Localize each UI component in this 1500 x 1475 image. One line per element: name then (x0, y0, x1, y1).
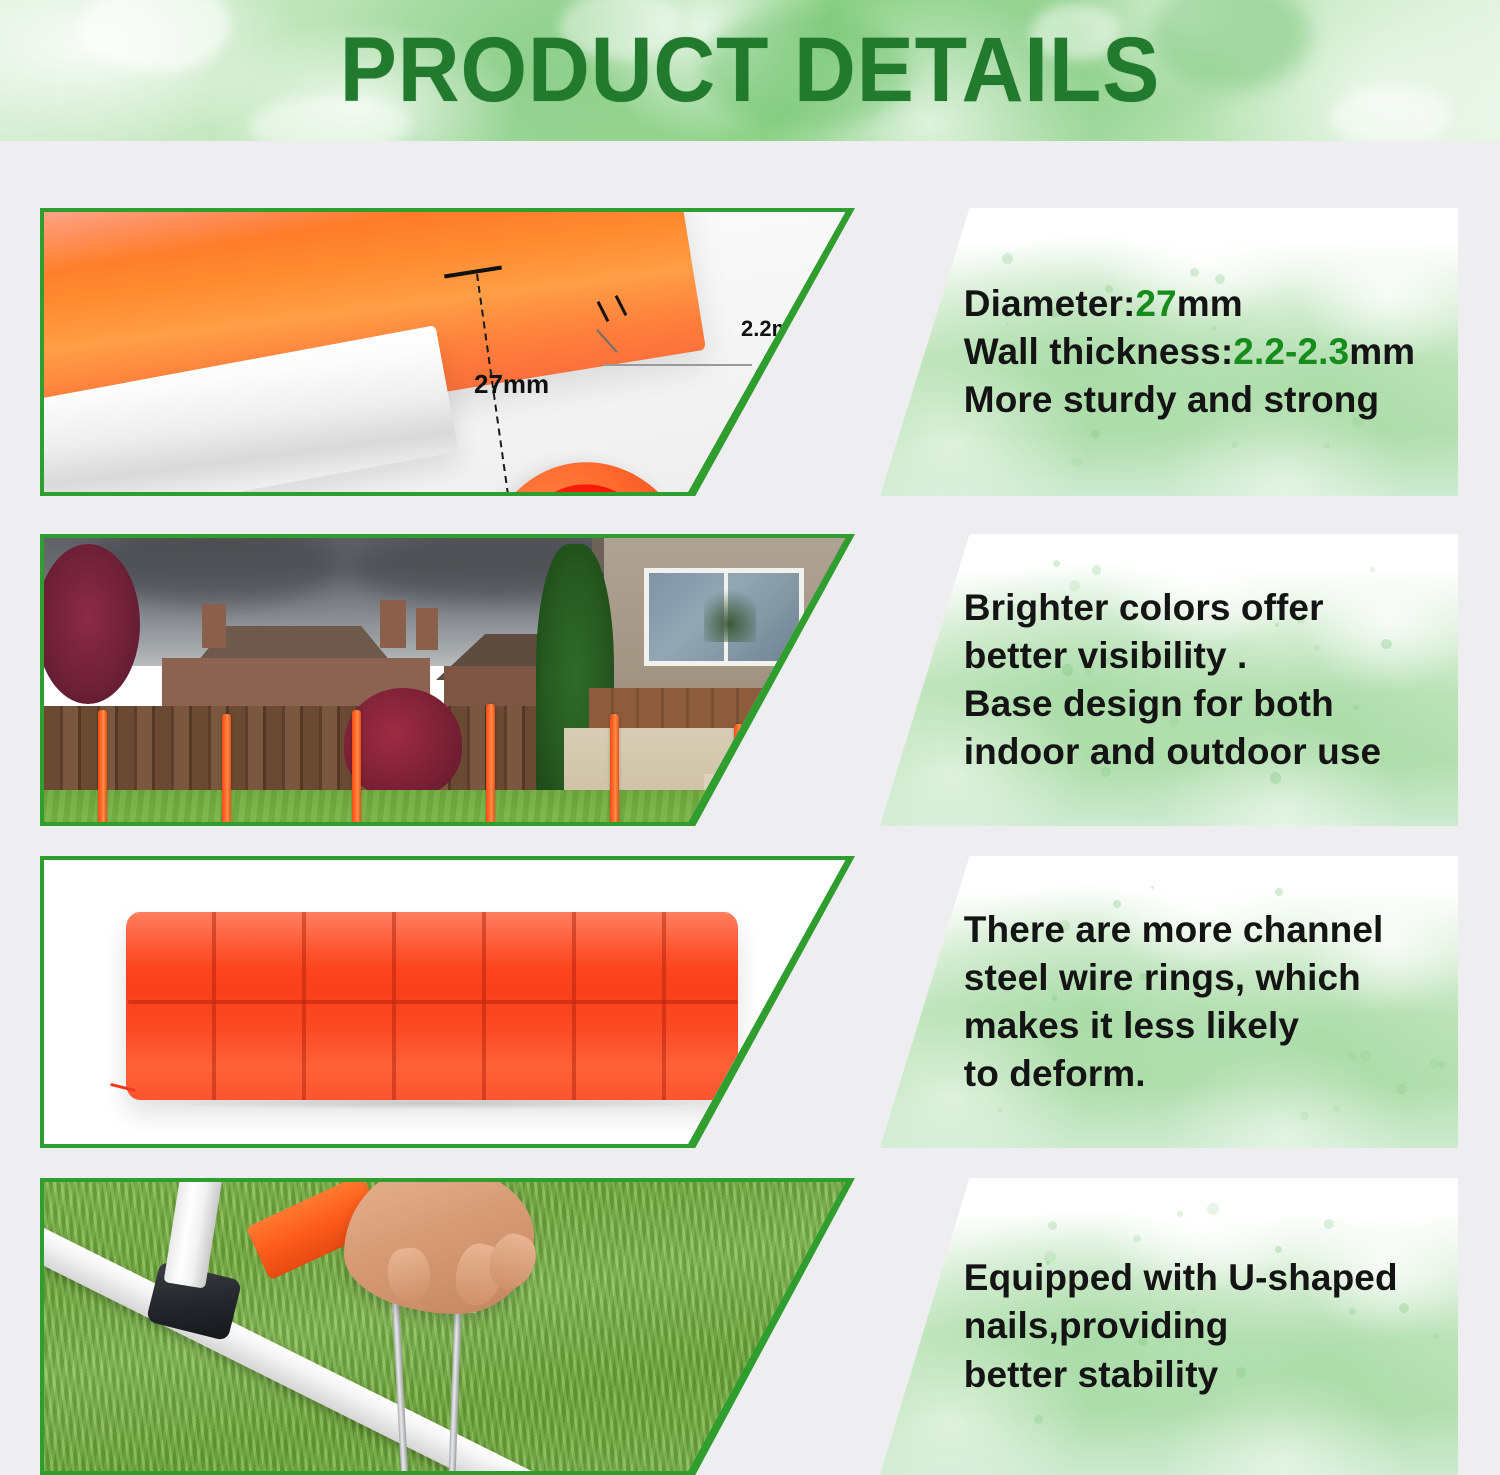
lawn-grass (44, 790, 851, 822)
tunnel-center-seam (128, 1000, 738, 1004)
text-card-u-nails: Equipped with U-shaped nails,providing b… (880, 1178, 1458, 1475)
text-card-visibility: Brighter colors offer better visibility … (880, 534, 1458, 826)
label-wall-thickness: Wall thickness: (964, 331, 1233, 372)
weave-pole (734, 724, 743, 822)
feature-line: better visibility . (964, 632, 1435, 680)
unit-wall-thickness: mm (1349, 331, 1415, 372)
feature-line: to deform. (964, 1050, 1435, 1098)
feature-line: Diameter:27mm (964, 280, 1435, 328)
image-card-pipe-comparison: Others 27mm 2.2mm (40, 208, 855, 496)
label-diameter: Diameter: (964, 283, 1136, 324)
watercolor-fleck (1438, 1061, 1445, 1068)
chimney (202, 604, 226, 648)
text-card-tunnel-rings: There are more channel steel wire rings,… (880, 856, 1458, 1148)
feature-line: Base design for both (964, 680, 1435, 728)
page-header: PRODUCT DETAILS (0, 0, 1500, 141)
text-card-pipe-dimensions: Diameter:27mm Wall thickness:2.2-2.3mm M… (880, 208, 1458, 496)
weave-pole (222, 714, 231, 822)
weave-pole (610, 714, 619, 822)
chimney (380, 600, 406, 648)
image-card-backyard-poles (40, 534, 855, 826)
feature-line: Wall thickness:2.2-2.3mm (964, 328, 1435, 376)
wooden-deck-bench (589, 688, 851, 728)
diameter-value-label: 27mm (474, 369, 549, 400)
page-title: PRODUCT DETAILS (53, 0, 1448, 141)
weave-pole (486, 704, 495, 822)
red-shrub (344, 688, 462, 798)
feature-text-block: Equipped with U-shaped nails,providing b… (964, 1178, 1435, 1475)
chimney (416, 608, 438, 650)
feature-line: indoor and outdoor use (964, 728, 1435, 776)
feature-line: steel wire rings, which (964, 954, 1435, 1002)
tunnel-tie-string (734, 1084, 760, 1095)
red-maple-tree (44, 544, 140, 704)
feature-text-block: There are more channel steel wire rings,… (964, 856, 1435, 1148)
feature-line: Brighter colors offer (964, 584, 1435, 632)
feature-text-block: Diameter:27mm Wall thickness:2.2-2.3mm M… (964, 208, 1435, 496)
feature-line: nails,providing (964, 1302, 1435, 1350)
image-card-agility-tunnel (40, 856, 855, 1148)
unit-diameter: mm (1177, 283, 1243, 324)
tunnel-end-rim (813, 900, 851, 1092)
wall-leader-line (604, 364, 752, 366)
beige-retaining-wall (704, 774, 851, 822)
feature-line: More sturdy and strong (964, 376, 1435, 424)
agility-tunnel-body (126, 912, 738, 1100)
wall-thickness-value-label: 2.2mm (741, 316, 811, 342)
value-wall-thickness: 2.2-2.3 (1233, 331, 1349, 372)
feature-line: There are more channel (964, 906, 1435, 954)
weave-pole (352, 710, 361, 822)
weave-pole (98, 710, 107, 822)
feature-line: Equipped with U-shaped (964, 1254, 1435, 1302)
feature-row-visibility: Brighter colors offer better visibility … (0, 534, 1500, 826)
feature-line: better stability (964, 1351, 1435, 1399)
feature-row-u-nails: Equipped with U-shaped nails,providing b… (0, 1178, 1500, 1475)
value-diameter: 27 (1135, 283, 1176, 324)
palm-reflection (704, 582, 756, 642)
feature-row-tunnel-rings: There are more channel steel wire rings,… (0, 856, 1500, 1148)
feature-text-block: Brighter colors offer better visibility … (964, 534, 1435, 826)
feature-line: makes it less likely (964, 1002, 1435, 1050)
image-card-u-shaped-nail (40, 1178, 855, 1475)
feature-row-pipe-dimensions: Others 27mm 2.2mm Diameter:27mm Wall thi… (0, 208, 1500, 496)
